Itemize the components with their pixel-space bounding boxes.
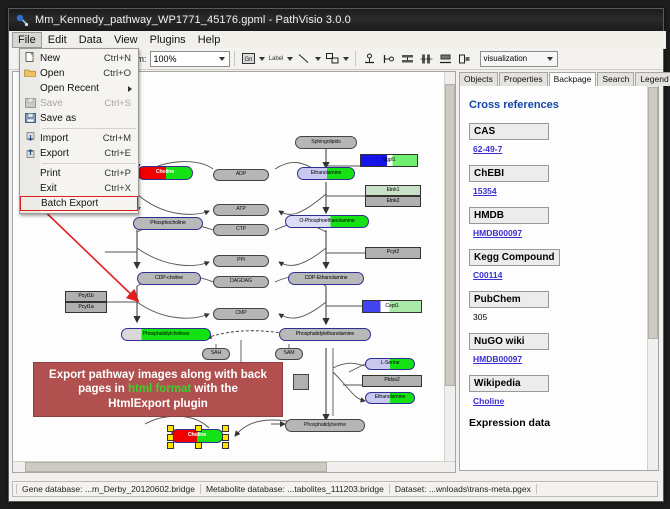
- align-left-button[interactable]: [381, 51, 396, 67]
- menu-item-import-accel: Ctrl+M: [103, 133, 138, 144]
- menu-plugins[interactable]: Plugins: [144, 32, 192, 48]
- app-root: Mm_Kennedy_pathway_WP1771_45176.gpml - P…: [0, 0, 670, 509]
- selection-handle[interactable]: [222, 442, 229, 449]
- side-panel: Objects Properties Backpage Search Legen…: [459, 71, 659, 471]
- node-sam[interactable]: SAM: [275, 348, 303, 360]
- menu-item-exit-accel: Ctrl+X: [104, 183, 138, 194]
- scrollbar-thumb[interactable]: [445, 84, 455, 386]
- xref-value-pubchem: 305: [473, 312, 639, 322]
- node-etnk2[interactable]: Etnk2: [365, 196, 421, 207]
- title-bar: Mm_Kennedy_pathway_WP1771_45176.gpml - P…: [9, 9, 663, 31]
- callout-line2-pre: pages in: [78, 383, 128, 395]
- node-adp[interactable]: ADP: [213, 169, 269, 181]
- import-icon: [20, 132, 40, 145]
- menu-data[interactable]: Data: [73, 32, 108, 48]
- window-title: Mm_Kennedy_pathway_WP1771_45176.gpml - P…: [35, 14, 351, 26]
- save-as-icon: [20, 113, 40, 125]
- menu-item-new-label: New: [40, 53, 104, 64]
- export-icon: [20, 147, 40, 160]
- callout-line2-post: with the: [191, 383, 238, 395]
- xref-header-wikipedia: Wikipedia: [469, 375, 549, 392]
- label-icon: Label: [269, 52, 284, 66]
- shape-icon: [325, 52, 340, 66]
- node-sah[interactable]: SAH: [202, 348, 230, 360]
- chevron-down-icon[interactable]: [287, 57, 293, 61]
- node-ppi[interactable]: PPi: [213, 255, 269, 267]
- backpage-content: Cross references CAS 62-49-7 ChEBI 15354…: [460, 86, 648, 470]
- label-button[interactable]: Label: [269, 51, 293, 67]
- cross-references-title: Cross references: [469, 99, 639, 111]
- status-dataset: Dataset: ...wnloads\trans-meta.pgex: [390, 484, 537, 494]
- selection-handle[interactable]: [167, 442, 174, 449]
- xref-header-hmdb: HMDB: [469, 207, 549, 224]
- node-connector-box: [293, 374, 309, 390]
- datanode-icon: Gn: [241, 52, 256, 66]
- selection-handle[interactable]: [222, 434, 229, 441]
- distribute-button[interactable]: [400, 51, 415, 67]
- selection-handle[interactable]: [167, 434, 174, 441]
- menu-item-export[interactable]: Export Ctrl+E: [20, 146, 138, 161]
- menu-item-save-accel: Ctrl+S: [104, 98, 138, 109]
- align-top-button[interactable]: [362, 51, 377, 67]
- line-icon: [297, 52, 312, 66]
- distribute-icon: [400, 52, 415, 66]
- tab-backpage[interactable]: Backpage: [549, 72, 597, 87]
- toolbar-separator: [355, 51, 356, 66]
- file-menu-dropdown[interactable]: New Ctrl+N Open Ctrl+O Open Recent Save: [19, 48, 139, 214]
- common-width-icon: [419, 52, 434, 66]
- chevron-down-icon[interactable]: [259, 57, 265, 61]
- scrollbar-thumb[interactable]: [25, 462, 327, 472]
- stack-button[interactable]: [438, 51, 453, 67]
- menu-item-open-label: Open: [40, 68, 103, 79]
- zoom-combobox[interactable]: 100%: [150, 51, 230, 67]
- node-sgpl1[interactable]: Sgpl1: [360, 154, 418, 167]
- node-pcyt1a[interactable]: Pcyt1a: [65, 302, 107, 313]
- chevron-right-icon: [128, 86, 132, 92]
- menu-item-print[interactable]: Print Ctrl+P: [20, 166, 138, 181]
- menu-separator: [42, 128, 136, 129]
- node-ethanolamine-top[interactable]: Ethanolamine: [297, 167, 355, 180]
- node-phosphatidylethanolamine[interactable]: Phosphatidylethanolamine: [279, 328, 371, 341]
- node-ptdss2[interactable]: Ptdss2: [362, 375, 422, 387]
- node-ctp[interactable]: CTP: [213, 224, 269, 236]
- menu-separator: [42, 163, 136, 164]
- canvas-vertical-scrollbar[interactable]: [444, 72, 455, 472]
- menu-item-open-recent[interactable]: Open Recent: [20, 81, 138, 96]
- menu-item-export-accel: Ctrl+E: [104, 148, 138, 159]
- line-button[interactable]: [297, 51, 321, 67]
- xref-link-cas[interactable]: 62-49-7: [473, 144, 639, 154]
- node-l-serine[interactable]: L-Serine: [365, 358, 415, 370]
- xref-header-chebi: ChEBI: [469, 165, 549, 182]
- node-ethanolamine-bottom[interactable]: Ethanolamine: [365, 392, 415, 404]
- menu-help[interactable]: Help: [192, 32, 227, 48]
- chevron-down-icon: [219, 57, 225, 61]
- align-top-icon: [362, 52, 377, 66]
- menu-bar[interactable]: File Edit Data View Plugins Help: [9, 31, 666, 49]
- group-icon: [457, 52, 472, 66]
- menu-item-print-label: Print: [40, 168, 104, 179]
- selection-handle[interactable]: [222, 425, 229, 432]
- menu-edit[interactable]: Edit: [42, 32, 73, 48]
- node-cdp-choline[interactable]: CDP-choline: [137, 272, 201, 285]
- expression-data-title: Expression data: [469, 417, 639, 429]
- tab-properties[interactable]: Properties: [499, 72, 548, 86]
- menu-file[interactable]: File: [12, 32, 42, 48]
- menu-item-save: Save Ctrl+S: [20, 96, 138, 111]
- menu-item-exit-label: Exit: [40, 183, 104, 194]
- node-cept1[interactable]: Cept1: [362, 300, 422, 313]
- callout-line2-highlight: html format: [128, 383, 191, 395]
- node-etnk1[interactable]: Etnk1: [365, 185, 421, 196]
- menu-item-batch-export[interactable]: Batch Export: [20, 196, 138, 211]
- pathvisio-icon: [15, 13, 29, 27]
- xref-link-chebi[interactable]: 15354: [473, 186, 639, 196]
- zoom-value: 100%: [154, 54, 177, 64]
- backpage-panel: Cross references CAS 62-49-7 ChEBI 15354…: [459, 86, 659, 471]
- datanode-button[interactable]: Gn: [241, 51, 265, 67]
- menu-item-save-as[interactable]: Save as: [20, 111, 138, 126]
- canvas-horizontal-scrollbar[interactable]: [13, 461, 455, 472]
- node-phosphatidylserine[interactable]: Phosphatidylserine: [285, 419, 365, 432]
- callout-line3: HtmlExport plugin: [108, 398, 208, 410]
- menu-item-new-accel: Ctrl+N: [104, 53, 138, 64]
- align-left-icon: [381, 52, 396, 66]
- menu-item-open-recent-label: Open Recent: [40, 83, 128, 94]
- callout-line1: Export pathway images along with back: [49, 369, 267, 381]
- selection-handle[interactable]: [195, 442, 202, 449]
- menu-view[interactable]: View: [108, 32, 144, 48]
- menu-item-export-label: Export: [40, 148, 104, 159]
- scrollbar-thumb[interactable]: [648, 87, 658, 339]
- xref-header-pubchem: PubChem: [469, 291, 549, 308]
- node-phosphocholine[interactable]: Phosphocholine: [133, 217, 203, 230]
- node-cmp[interactable]: CMP: [213, 308, 269, 320]
- menu-item-open[interactable]: Open Ctrl+O: [20, 66, 138, 81]
- menu-item-print-accel: Ctrl+P: [104, 168, 138, 179]
- save-icon: [20, 98, 40, 110]
- node-o-phosphoethanolamine[interactable]: O-Phosphoethanolamine: [285, 215, 369, 228]
- status-gene-database: Gene database: ...m_Derby_20120602.bridg…: [16, 484, 201, 494]
- selection-handle[interactable]: [195, 425, 202, 432]
- folder-open-icon: [20, 68, 40, 80]
- chevron-down-icon: [547, 57, 553, 61]
- xref-header-cas: CAS: [469, 123, 549, 140]
- menu-item-batch-export-label: Batch Export: [41, 198, 130, 209]
- menu-item-save-label: Save: [40, 98, 104, 109]
- menu-item-import-label: Import: [40, 133, 103, 144]
- node-choline-top[interactable]: Choline: [137, 166, 193, 180]
- status-bar: Gene database: ...m_Derby_20120602.bridg…: [12, 481, 658, 497]
- side-panel-tabs[interactable]: Objects Properties Backpage Search Legen…: [459, 71, 659, 87]
- node-choline-selected-wrapper[interactable]: Choline: [171, 429, 223, 443]
- node-pcyt1b[interactable]: Pcyt1b: [65, 291, 107, 302]
- xref-link-kegg-compound[interactable]: C00114: [473, 270, 639, 280]
- svg-text:Gn: Gn: [244, 57, 252, 63]
- xref-link-wikipedia[interactable]: Choline: [473, 396, 639, 406]
- node-pcyt2[interactable]: Pcyt2: [365, 247, 421, 259]
- stack-icon: [438, 52, 453, 66]
- menu-item-new[interactable]: New Ctrl+N: [20, 51, 138, 66]
- menu-item-open-accel: Ctrl+O: [103, 68, 138, 79]
- tab-objects[interactable]: Objects: [459, 72, 498, 86]
- visualization-combobox[interactable]: visualization: [480, 51, 558, 67]
- pathvisio-window: Mm_Kennedy_pathway_WP1771_45176.gpml - P…: [8, 8, 664, 502]
- xref-link-nugo-wiki[interactable]: HMDB00097: [473, 354, 639, 364]
- status-metabolite-database: Metabolite database: ...tabolites_111203…: [201, 484, 390, 494]
- xref-header-nugo-wiki: NuGO wiki: [469, 333, 549, 350]
- node-phosphatidylcholines[interactable]: Phosphatidylcholines: [121, 328, 211, 341]
- node-cdp-ethanolamine[interactable]: CDP-Ethanolamine: [288, 272, 364, 285]
- annotation-callout: Export pathway images along with back pa…: [33, 362, 283, 417]
- visualization-value: visualization: [484, 54, 528, 63]
- menu-item-save-as-label: Save as: [40, 113, 131, 124]
- menu-item-import[interactable]: Import Ctrl+M: [20, 131, 138, 146]
- toolbar-separator: [234, 51, 235, 66]
- shape-button[interactable]: [325, 51, 349, 67]
- node-atp[interactable]: ATP: [213, 204, 269, 216]
- group-button[interactable]: [457, 51, 472, 67]
- chevron-down-icon[interactable]: [343, 57, 349, 61]
- node-sphingolipids[interactable]: Sphingolipids: [295, 136, 357, 149]
- new-document-icon: [20, 52, 40, 65]
- backpage-vertical-scrollbar[interactable]: [647, 86, 658, 470]
- chevron-down-icon[interactable]: [315, 57, 321, 61]
- tab-legend[interactable]: Legend: [635, 72, 670, 86]
- xref-header-kegg-compound: Kegg Compound: [469, 249, 560, 266]
- node-dag[interactable]: DAGDAG: [213, 276, 269, 288]
- xref-link-hmdb[interactable]: HMDB00097: [473, 228, 639, 238]
- common-width-button[interactable]: [419, 51, 434, 67]
- menu-item-exit[interactable]: Exit Ctrl+X: [20, 181, 138, 196]
- selection-handle[interactable]: [167, 425, 174, 432]
- tab-search[interactable]: Search: [597, 72, 634, 86]
